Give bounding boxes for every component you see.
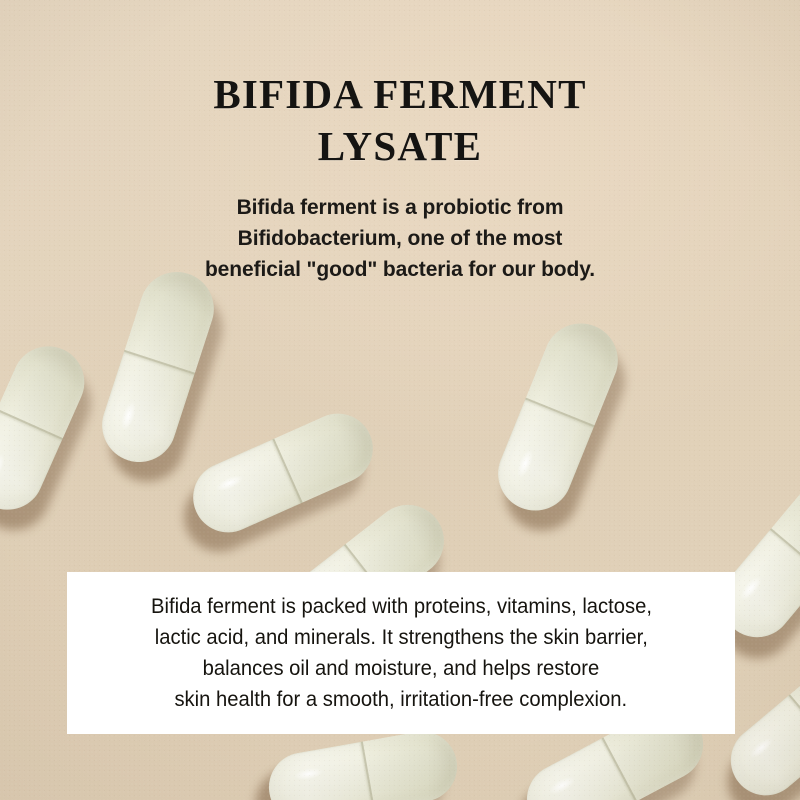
subtitle: Bifida ferment is a probiotic from Bifid… [0,192,800,285]
page-title: BIFIDA FERMENT LYSATE [0,68,800,172]
description-line-1: Bifida ferment is packed with proteins, … [151,591,652,622]
description-line-4: skin health for a smooth, irritation-fre… [175,684,628,715]
description-line-3: balances oil and moisture, and helps res… [203,653,600,684]
subtitle-line-1: Bifida ferment is a probiotic from [0,192,800,223]
subtitle-line-3: beneficial "good" bacteria for our body. [0,254,800,285]
ingredient-infographic: BIFIDA FERMENT LYSATE Bifida ferment is … [0,0,800,800]
subtitle-line-2: Bifidobacterium, one of the most [0,223,800,254]
description-line-2: lactic acid, and minerals. It strengthen… [154,622,647,653]
description-card: Bifida ferment is packed with proteins, … [67,572,735,734]
title-line-2: LYSATE [0,120,800,172]
title-line-1: BIFIDA FERMENT [0,68,800,120]
